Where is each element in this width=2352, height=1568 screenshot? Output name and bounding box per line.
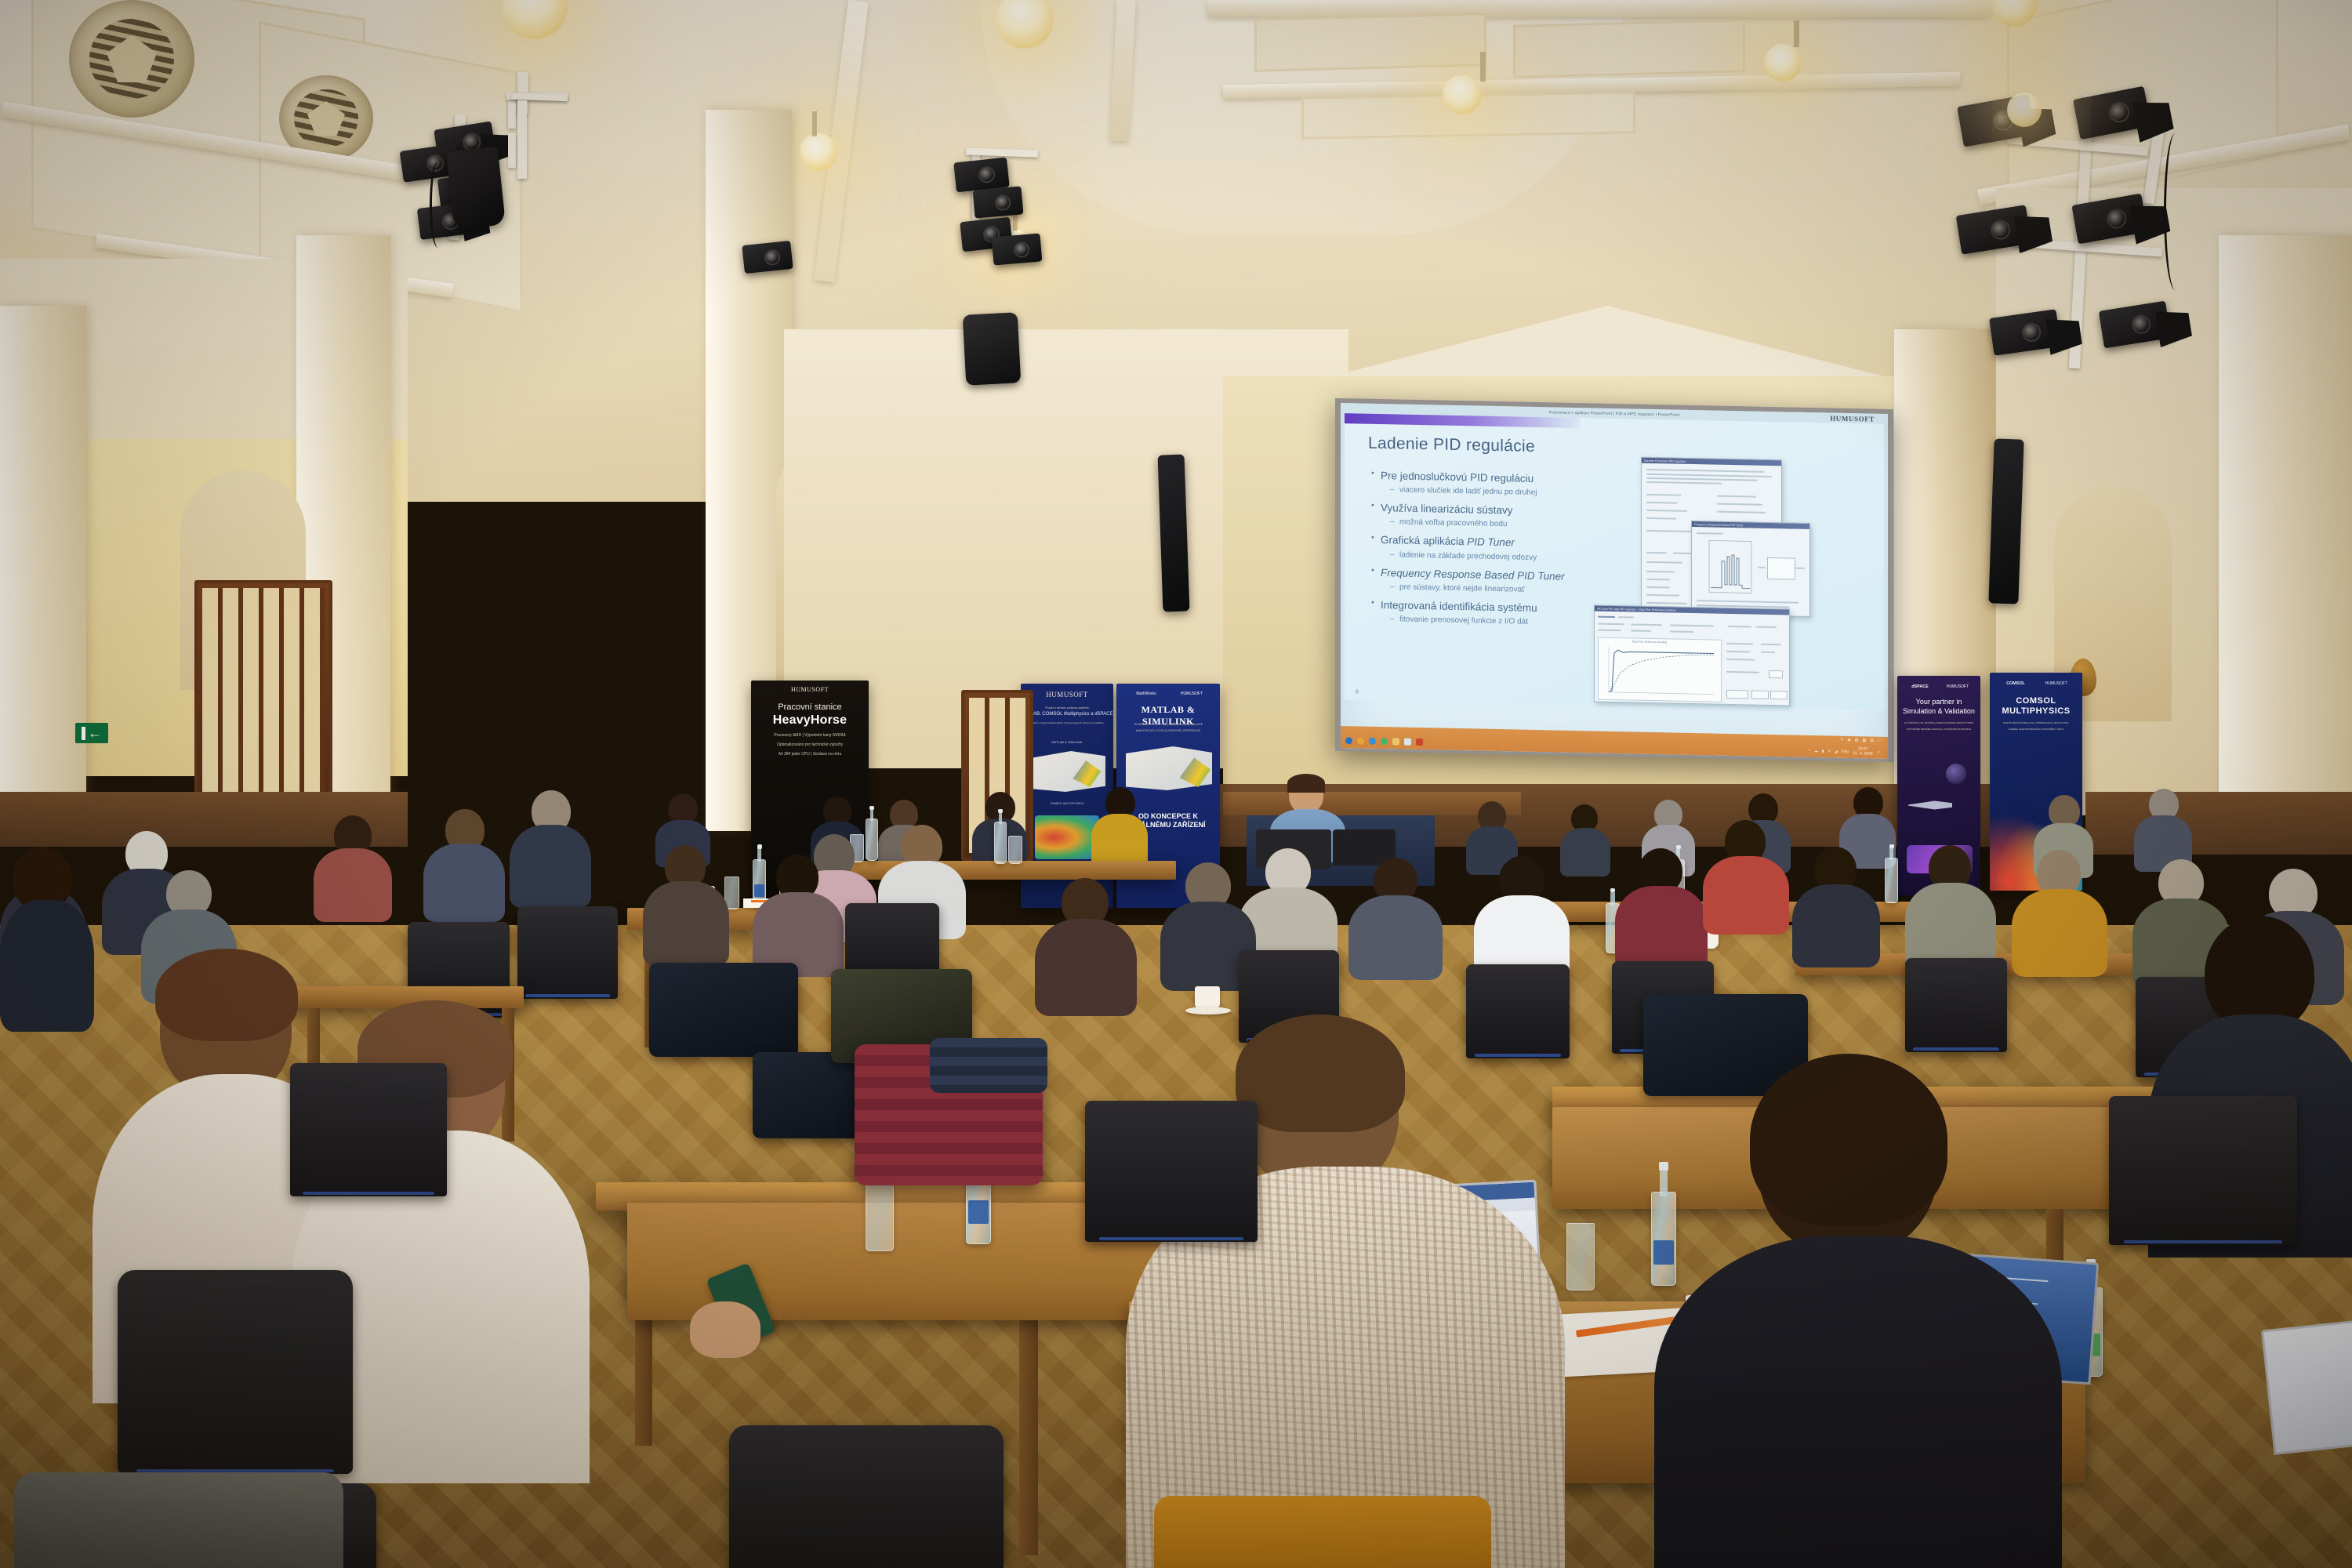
audience-person-mid-14 xyxy=(423,809,505,919)
backpack-front-left xyxy=(649,963,798,1057)
torso xyxy=(423,844,505,922)
screenshot-2-title: Frequency Response Based PID Tuner xyxy=(1694,523,1744,527)
bullet-2-text: Využíva linearizáciu sústavy xyxy=(1381,502,1512,516)
pen-icon[interactable]: ✎ xyxy=(1840,738,1843,742)
zoom-icon[interactable]: ▥ xyxy=(1870,739,1874,743)
banner-comsol-line-2: CHEMIE | ELEKTROTECHNIKA | PROUDĚNÍ | TE… xyxy=(1990,728,2082,731)
slides-grid-icon[interactable]: ▦ xyxy=(1863,738,1867,742)
bullet-5-text: Integrovaná identifikácia systému xyxy=(1381,599,1537,614)
bullet-3-text: Grafická aplikácia xyxy=(1381,534,1467,547)
conference-hall-photo: Prezentace v aplikaci PowerPoint | PID a… xyxy=(0,0,2352,1568)
more-options-icon[interactable]: ⋯ xyxy=(1878,739,1882,743)
banner-heavyhorse-logo: HUMUSOFT xyxy=(751,686,869,693)
ceiling-light-3 xyxy=(1443,75,1482,114)
torso xyxy=(314,848,392,922)
wainscot-right xyxy=(2085,792,2352,855)
lens-icon xyxy=(2107,100,2131,124)
audience-person-mid-5 xyxy=(1474,856,1570,975)
banner-heavyhorse-line-1: Procesory AMD | Výpočetní karty NVIDIA xyxy=(751,732,869,739)
ceiling-light-6 xyxy=(800,133,837,171)
stage-light-b2 xyxy=(973,186,1024,218)
presentation-slide: HUMUSOFT Ladenie PID regulácie Pre jedno… xyxy=(1345,413,1884,710)
lens-icon xyxy=(2021,321,2042,343)
attendee-foreground-left-1 xyxy=(0,847,94,1027)
laptop-lid xyxy=(2261,1320,2352,1455)
audience-person-mid-8 xyxy=(1792,847,1880,963)
banner-matlab-line-2: ANALÝZA DAT | VÝVOJ ALGORITMŮ | CERTIFIK… xyxy=(1116,729,1220,734)
banner-matlab-line-1: TECHNICKÉ VÝPOČTY | AI | MODELOVÁNÍ | SI… xyxy=(1116,723,1220,728)
hair xyxy=(1236,1014,1405,1132)
banner-dspace-logo-right: HUMUSOFT xyxy=(1916,684,1980,691)
torso xyxy=(1615,886,1708,971)
drinking-glass[interactable] xyxy=(866,1178,894,1251)
banner-comsol-logo-right: HUMUSOFT xyxy=(2010,681,2082,688)
powerpoint-icon[interactable] xyxy=(1416,739,1423,746)
hanging-speaker-left xyxy=(446,147,506,230)
banner-dspace-headline: Your partner in Simulation & Validation xyxy=(1897,698,1980,716)
attendee-laptop-3[interactable] xyxy=(2261,1320,2352,1455)
stage-light-f2 xyxy=(992,233,1043,265)
audience-person-mid-17 xyxy=(1035,878,1137,1011)
screenshot-1-titlebar: Discrete Parameter PID regulator xyxy=(1642,458,1781,466)
chair[interactable] xyxy=(517,906,618,999)
cloud-icon: ☁ xyxy=(1814,749,1818,753)
hair xyxy=(155,949,298,1041)
chair-cover-orange xyxy=(1154,1496,1491,1568)
bottle-neck xyxy=(1889,847,1893,860)
wall-speaker-right xyxy=(1988,438,2024,604)
bottle-neck xyxy=(999,811,1002,824)
torso xyxy=(1348,895,1443,980)
slide-page-number: 8 xyxy=(1356,689,1359,695)
clock-date: 21. 4. 2026 xyxy=(1853,751,1873,757)
bottle-neck xyxy=(870,808,873,821)
chevron-up-icon[interactable]: ^ xyxy=(1809,749,1810,753)
bullet-2-sub: možná voľba pracovného bodu xyxy=(1390,517,1605,532)
pillar-left-1 xyxy=(0,306,86,808)
light-bar-left xyxy=(508,133,516,168)
lens-icon xyxy=(2130,314,2151,335)
torso xyxy=(1035,919,1137,1016)
whatsapp-icon[interactable] xyxy=(1381,738,1388,745)
step-plot-title: Step Plot: Reference tracking xyxy=(1632,640,1667,644)
chair-mid-left[interactable] xyxy=(290,1063,447,1196)
banner-portfolio-headline-small: Prodej a servisní podpora systémů xyxy=(1021,706,1113,710)
arrow-left-icon: ← xyxy=(88,726,102,740)
banner-portfolio-logo: HUMUSOFT xyxy=(1021,691,1113,699)
slide-screenshot-step-plot: PID auto PID app PID regulator - Step Pl… xyxy=(1594,604,1790,706)
bottle-label xyxy=(968,1200,989,1224)
start-icon[interactable] xyxy=(1345,737,1352,744)
audience-person-far-5 xyxy=(1091,787,1148,866)
door-left[interactable] xyxy=(194,580,332,822)
screenshot-2-titlebar: Frequency Response Based PID Tuner xyxy=(1692,521,1809,529)
lens-icon xyxy=(2105,208,2128,230)
powerpoint-window-title: Prezentace v aplikaci PowerPoint | PID a… xyxy=(1549,410,1680,417)
torso xyxy=(510,825,591,908)
stage-light-warm-glow xyxy=(2007,93,2042,127)
audience-person-mid-10 xyxy=(2012,850,2107,972)
banner-dspace-line-1: HIL TESTING | SIL TESTING | RAPID CONTRO… xyxy=(1897,721,1980,725)
banner-comsol-headline: COMSOL MULTIPHYSICS xyxy=(1990,696,2082,717)
lens-icon xyxy=(978,165,996,183)
slide-title: Ladenie PID regulácie xyxy=(1368,434,1535,456)
audience-person-mid-22 xyxy=(643,845,729,963)
door-glass-panes xyxy=(202,588,325,814)
emergency-exit-sign: ← xyxy=(75,723,108,743)
lens-icon xyxy=(1013,241,1030,259)
audience-person-mid-6 xyxy=(1615,848,1708,966)
media-icon[interactable] xyxy=(1404,739,1411,746)
light-stem-1 xyxy=(1480,52,1486,82)
edge-icon[interactable] xyxy=(1369,738,1376,745)
language-indicator[interactable]: ENG xyxy=(1842,750,1849,753)
bullet-4-sub: pre sústavy, ktoré nejde linearizovať xyxy=(1390,582,1605,597)
banner-portfolio-caption-1: MATLAB & SIMULINK xyxy=(1021,740,1113,746)
banner-portfolio-line-1: Školení | Implementační služby | Vývoj p… xyxy=(1021,721,1113,725)
light-stem-4 xyxy=(812,111,817,136)
banner-portfolio-comsol-graphic xyxy=(1035,815,1099,859)
presenter-hair xyxy=(1287,774,1325,793)
bottle-cap xyxy=(869,806,874,810)
banner-dspace-airplane-graphic xyxy=(1908,792,1952,818)
torso xyxy=(2012,889,2107,977)
ceiling-vent-1 xyxy=(69,0,194,118)
taskbar-system-tray[interactable]: ^ ☁ ▮ ✛ ◢ ENG 13:57 21. 4. 2026 ▭ xyxy=(1809,746,1880,757)
banner-comsol-line-1: MULTIFYZIKÁLNÍ SIMULACE | OPTIMALIZACE |… xyxy=(1990,721,2082,725)
step-response-curve xyxy=(1604,645,1717,698)
bullet-1-sub: viacero slučiek ide ladiť jednu po druhe… xyxy=(1390,485,1605,499)
pillar-right-2 xyxy=(2219,235,2352,831)
chair-mid-right[interactable] xyxy=(1085,1101,1258,1242)
wall-speaker-left xyxy=(1158,454,1190,612)
bullet-3-text-italic: PID Tuner xyxy=(1467,536,1515,549)
humusoft-logo: HUMUSOFT xyxy=(1830,415,1875,423)
network-icon[interactable]: ▮ xyxy=(1822,749,1824,753)
exit-door-glyph xyxy=(82,727,85,740)
chair[interactable] xyxy=(1905,958,2007,1052)
projection-screen[interactable]: Prezentace v aplikaci PowerPoint | PID a… xyxy=(1341,403,1888,759)
audience-person-mid-15 xyxy=(510,790,591,905)
banner-matlab-logo-right: HUMUSOFT xyxy=(1140,691,1220,698)
ceiling-coffer-1 xyxy=(1254,13,1486,72)
banner-heavyhorse-headline-small: Pracovní stanice xyxy=(751,702,869,712)
light-truss-f xyxy=(517,100,527,179)
audience-person-mid-9 xyxy=(1905,845,1996,964)
banner-heavyhorse-headline-large: HeavyHorse xyxy=(751,713,869,728)
light-stem-2 xyxy=(1794,20,1799,47)
water-bottle[interactable] xyxy=(1885,858,1898,903)
taskbar-clock[interactable]: 13:57 21. 4. 2026 xyxy=(1853,747,1873,757)
torso xyxy=(1654,1236,2062,1568)
torso xyxy=(1792,884,1880,967)
stage-light-g1 xyxy=(742,241,793,274)
audience-person-mid-16 xyxy=(753,855,844,972)
chair-cover-grey xyxy=(14,1472,343,1568)
torso xyxy=(643,881,729,966)
bottle-cap xyxy=(1889,844,1894,848)
audience-person-mid-13 xyxy=(314,815,392,917)
hair xyxy=(1750,1054,1947,1226)
slide-screenshot-frb-tuner: Frequency Response Based PID Tuner xyxy=(1691,521,1810,617)
banner-heavyhorse-line-3: Až 384 jader CPU | Sestava na míru xyxy=(751,751,869,758)
hand xyxy=(690,1301,760,1358)
chair-foreground-center[interactable] xyxy=(729,1425,1004,1568)
bottle-cap xyxy=(998,809,1003,813)
chair-foreground-left[interactable] xyxy=(118,1270,353,1474)
hanging-speaker-mid xyxy=(963,312,1022,386)
lens-icon xyxy=(764,249,781,266)
torso xyxy=(0,900,94,1032)
audience-person-mid-4 xyxy=(1348,858,1443,975)
highlighter-icon[interactable]: ▤ xyxy=(1855,738,1859,742)
ceiling-light-4 xyxy=(1764,44,1802,82)
saucer xyxy=(1185,1007,1231,1014)
chrome-icon[interactable] xyxy=(1357,737,1364,744)
frequency-response-plot xyxy=(1706,539,1755,601)
laser-icon[interactable]: ◉ xyxy=(1847,738,1850,742)
screenshot-3-title: PID auto PID app PID regulator - Step Pl… xyxy=(1597,607,1675,612)
drinking-glass[interactable] xyxy=(1008,836,1022,864)
bottle-neck xyxy=(1610,891,1614,906)
banner-heavyhorse-line-2: Optimalizováno pro technické výpočty xyxy=(751,742,869,749)
lens-icon xyxy=(994,194,1011,212)
torso xyxy=(1091,814,1148,867)
audience-person-mid-7 xyxy=(1703,820,1789,931)
water-bottle[interactable] xyxy=(994,822,1007,864)
drinking-glass[interactable] xyxy=(1566,1223,1595,1290)
ceiling-rib-3 xyxy=(1207,0,1991,17)
bullet-4-text-italic: Frequency Response Based PID Tuner xyxy=(1381,567,1565,583)
slide-bullet-list: Pre jednoslučkovú PID reguláciu viacero … xyxy=(1370,469,1605,635)
bullet-5-sub: fitovanie prenosovej funkcie z I/O dát xyxy=(1390,614,1605,629)
chair-right-front[interactable] xyxy=(2109,1096,2297,1245)
explorer-icon[interactable] xyxy=(1392,738,1399,745)
banner-portfolio-headline-large: MATLAB, COMSOL Multiphysics a dSPACE xyxy=(1021,712,1113,717)
block-diagram xyxy=(1767,557,1795,580)
attendee-foreground-dark-jacket xyxy=(1654,1068,2062,1568)
bullet-3-sub: ladenie na základe prechodovej odozvy xyxy=(1390,550,1605,564)
navy-puffer-shoulder xyxy=(930,1038,1047,1093)
laptop-screen[interactable] xyxy=(2263,1323,2352,1452)
light-truss-c xyxy=(508,96,516,129)
ceiling-coffer-2 xyxy=(1513,19,1745,78)
taskbar-slideshow-controls[interactable]: ✎ ◉ ▤ ▦ ▥ ⋯ xyxy=(1840,738,1882,743)
banner-dspace-line-2: SOFTWARE DEFINED VEHICLE | AUTONOMOUS DR… xyxy=(1897,728,1980,731)
notifications-icon[interactable]: ▭ xyxy=(1877,750,1880,754)
torso xyxy=(1905,883,1996,969)
bottle-cap xyxy=(757,844,762,848)
bullet-1-text: Pre jednoslučkovú PID reguláciu xyxy=(1381,470,1534,485)
screenshot-1-title: Discrete Parameter PID regulator xyxy=(1644,459,1686,463)
bluetooth-icon[interactable]: ✛ xyxy=(1828,749,1831,753)
lens-icon xyxy=(1989,219,2012,241)
torso xyxy=(1703,856,1789,935)
cable-right xyxy=(2164,133,2187,290)
volume-icon[interactable]: ◢ xyxy=(1835,749,1838,753)
taskbar-app-icons[interactable] xyxy=(1345,737,1423,746)
banner-dspace-orb-graphic xyxy=(1946,764,1966,784)
cable-a xyxy=(430,162,446,248)
